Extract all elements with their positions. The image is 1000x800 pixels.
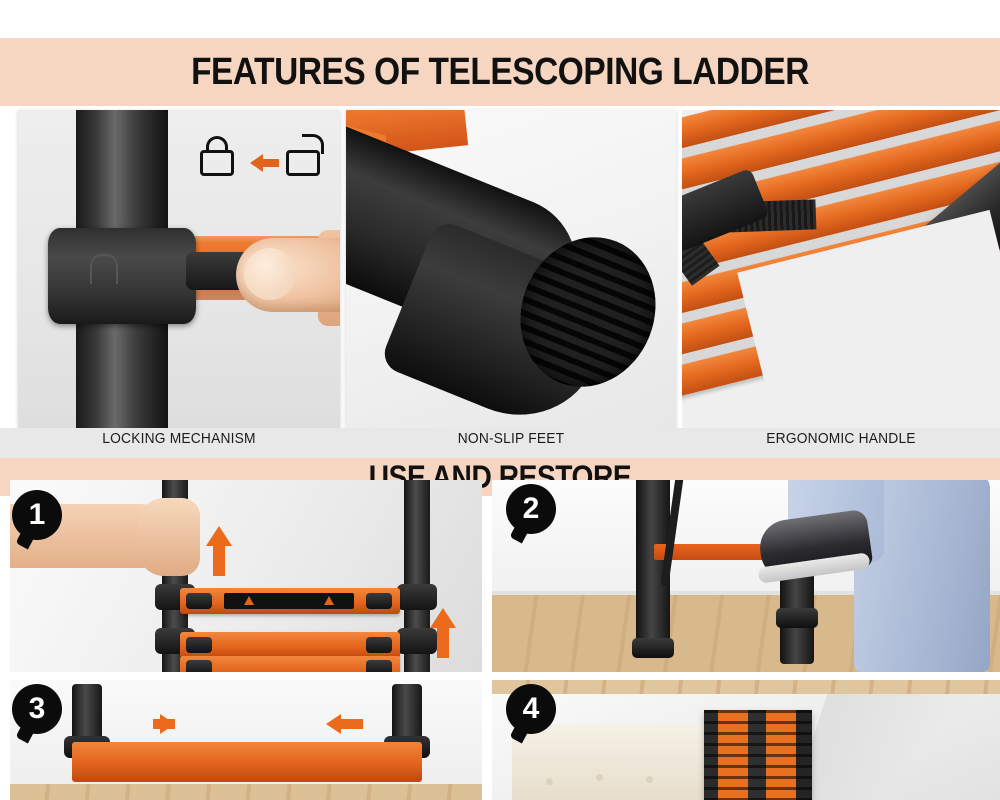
hand-gripping-rail — [138, 498, 200, 576]
wooden-floor — [10, 784, 482, 800]
caption-non-slip-feet: NON-SLIP FEET — [359, 430, 663, 447]
warning-triangle-icon — [244, 596, 254, 605]
step-badge-4: 4 — [506, 684, 556, 734]
rung-pad — [366, 637, 392, 653]
rung-pad — [186, 593, 212, 609]
step-badge-1: 1 — [12, 490, 62, 540]
features-panel-row — [0, 110, 1000, 428]
collapsed-ladder — [704, 710, 812, 800]
non-slip-foot — [632, 638, 674, 658]
sofa-tuft — [596, 774, 603, 781]
infographic-page: FEATURES OF TELESCOPING LADDER — [0, 0, 1000, 800]
thumbnail — [244, 248, 296, 300]
feature-panel-non-slip-feet — [346, 110, 676, 428]
warning-label — [224, 593, 354, 609]
locking-collar — [48, 228, 196, 324]
step-panel-2 — [492, 480, 1000, 672]
non-slip-foot — [776, 608, 818, 628]
warning-triangle-icon — [324, 596, 334, 605]
sofa — [512, 724, 712, 800]
rail-collar — [397, 628, 437, 654]
arrow-right-icon — [160, 714, 175, 734]
padlock-open-icon — [286, 132, 320, 176]
caption-ergonomic-handle: ERGONOMIC HANDLE — [695, 430, 988, 447]
feature-panel-locking-mechanism — [18, 110, 340, 428]
arrow-left-icon — [250, 154, 263, 172]
arrow-up-icon — [206, 526, 232, 546]
padlock-closed-icon — [200, 132, 234, 176]
rung-pad — [366, 593, 392, 609]
caption-locking-mechanism: LOCKING MECHANISM — [31, 430, 327, 447]
rung-pad — [186, 660, 212, 672]
ladder-rung — [72, 742, 422, 782]
features-banner-title: FEATURES OF TELESCOPING LADDER — [60, 50, 940, 94]
sofa-tuft — [546, 778, 553, 785]
rail-collar — [397, 584, 437, 610]
arrow-up-icon — [430, 608, 456, 628]
step-panel-3 — [10, 680, 482, 800]
step-badge-2: 2 — [506, 484, 556, 534]
feature-panel-ergonomic-handle — [682, 110, 1000, 428]
rung-pad — [366, 660, 392, 672]
arrow-left-icon — [326, 714, 341, 734]
feature-captions-row: LOCKING MECHANISM NON-SLIP FEET ERGONOMI… — [0, 428, 1000, 458]
rung-pad — [186, 637, 212, 653]
step-panel-4 — [492, 680, 1000, 800]
sofa-tuft — [646, 776, 653, 783]
padlock-body — [200, 150, 234, 176]
wooden-floor — [492, 680, 1000, 694]
padlock-body — [286, 150, 320, 176]
step-panel-1 — [10, 480, 482, 672]
step-badge-3: 3 — [12, 684, 62, 734]
